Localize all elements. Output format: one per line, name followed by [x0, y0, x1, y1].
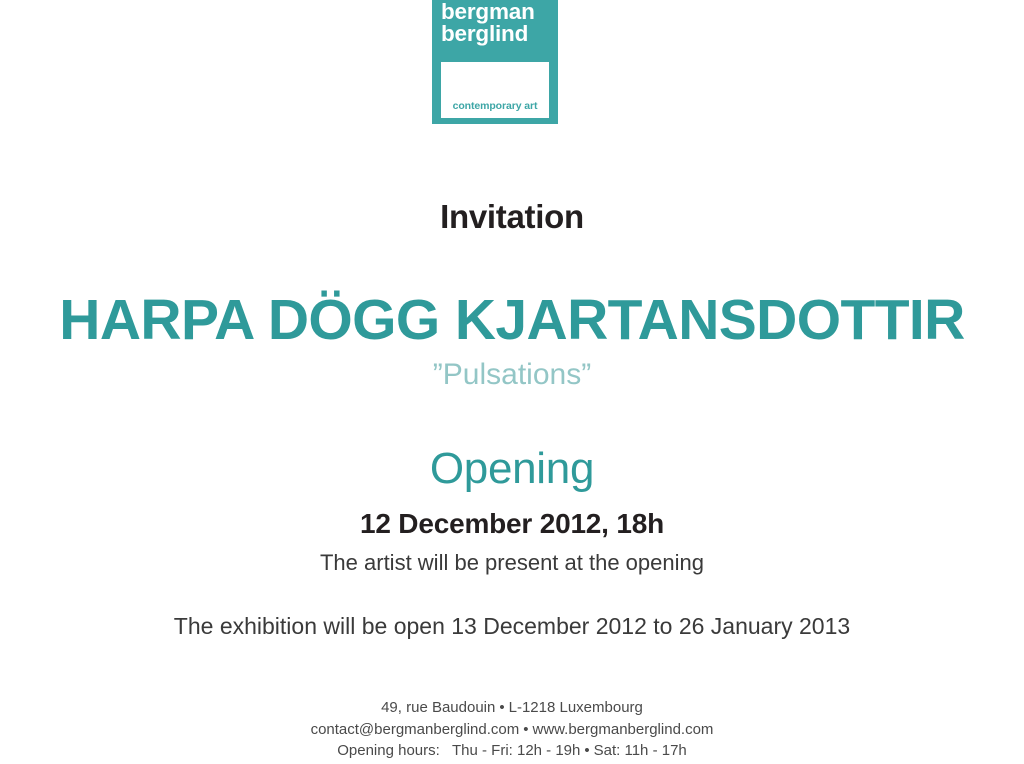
- footer-address: 49, rue Baudouin•L-1218 Luxembourg: [0, 699, 1024, 716]
- footer-hours-label: Opening hours:: [337, 742, 440, 759]
- footer-website[interactable]: www.bergmanberglind.com: [533, 721, 714, 738]
- footer-hours-weekday: Thu - Fri: 12h - 19h: [452, 742, 580, 759]
- artwork-title: ”Pulsations”: [0, 358, 1024, 392]
- footer-separator-1: •: [495, 699, 508, 716]
- footer-contact: contact@bergmanberglind.com•www.bergmanb…: [0, 721, 1024, 738]
- artist-present-note: The artist will be present at the openin…: [0, 550, 1024, 576]
- footer-address-street: 49, rue Baudouin: [381, 699, 495, 716]
- footer-hours-saturday: Sat: 11h - 17h: [594, 742, 687, 759]
- exhibition-dates: The exhibition will be open 13 December …: [0, 613, 1024, 640]
- logo-tagline: contemporary art: [441, 101, 549, 112]
- footer-email[interactable]: contact@bergmanberglind.com: [311, 721, 520, 738]
- footer-separator-2: •: [519, 721, 532, 738]
- logo-wordmark-line1: bergman: [441, 1, 553, 23]
- footer-address-city: L-1218 Luxembourg: [509, 699, 643, 716]
- footer-separator-3: •: [580, 742, 593, 759]
- artist-name: HARPA DÖGG KJARTANSDOTTIR: [0, 287, 1024, 353]
- opening-heading: Opening: [0, 444, 1024, 494]
- logo-wordmark: bergman berglind: [441, 1, 553, 45]
- logo-wordmark-line2: berglind: [441, 23, 553, 45]
- footer-hours-gap: [440, 742, 452, 759]
- opening-date: 12 December 2012, 18h: [0, 508, 1024, 540]
- logo-inner-box: contemporary art: [441, 62, 549, 118]
- gallery-logo: bergman berglind contemporary art: [432, 0, 558, 124]
- footer-opening-hours: Opening hours: Thu - Fri: 12h - 19h•Sat:…: [0, 742, 1024, 759]
- invitation-label: Invitation: [0, 198, 1024, 236]
- invitation-page: bergman berglind contemporary art Invita…: [0, 0, 1024, 764]
